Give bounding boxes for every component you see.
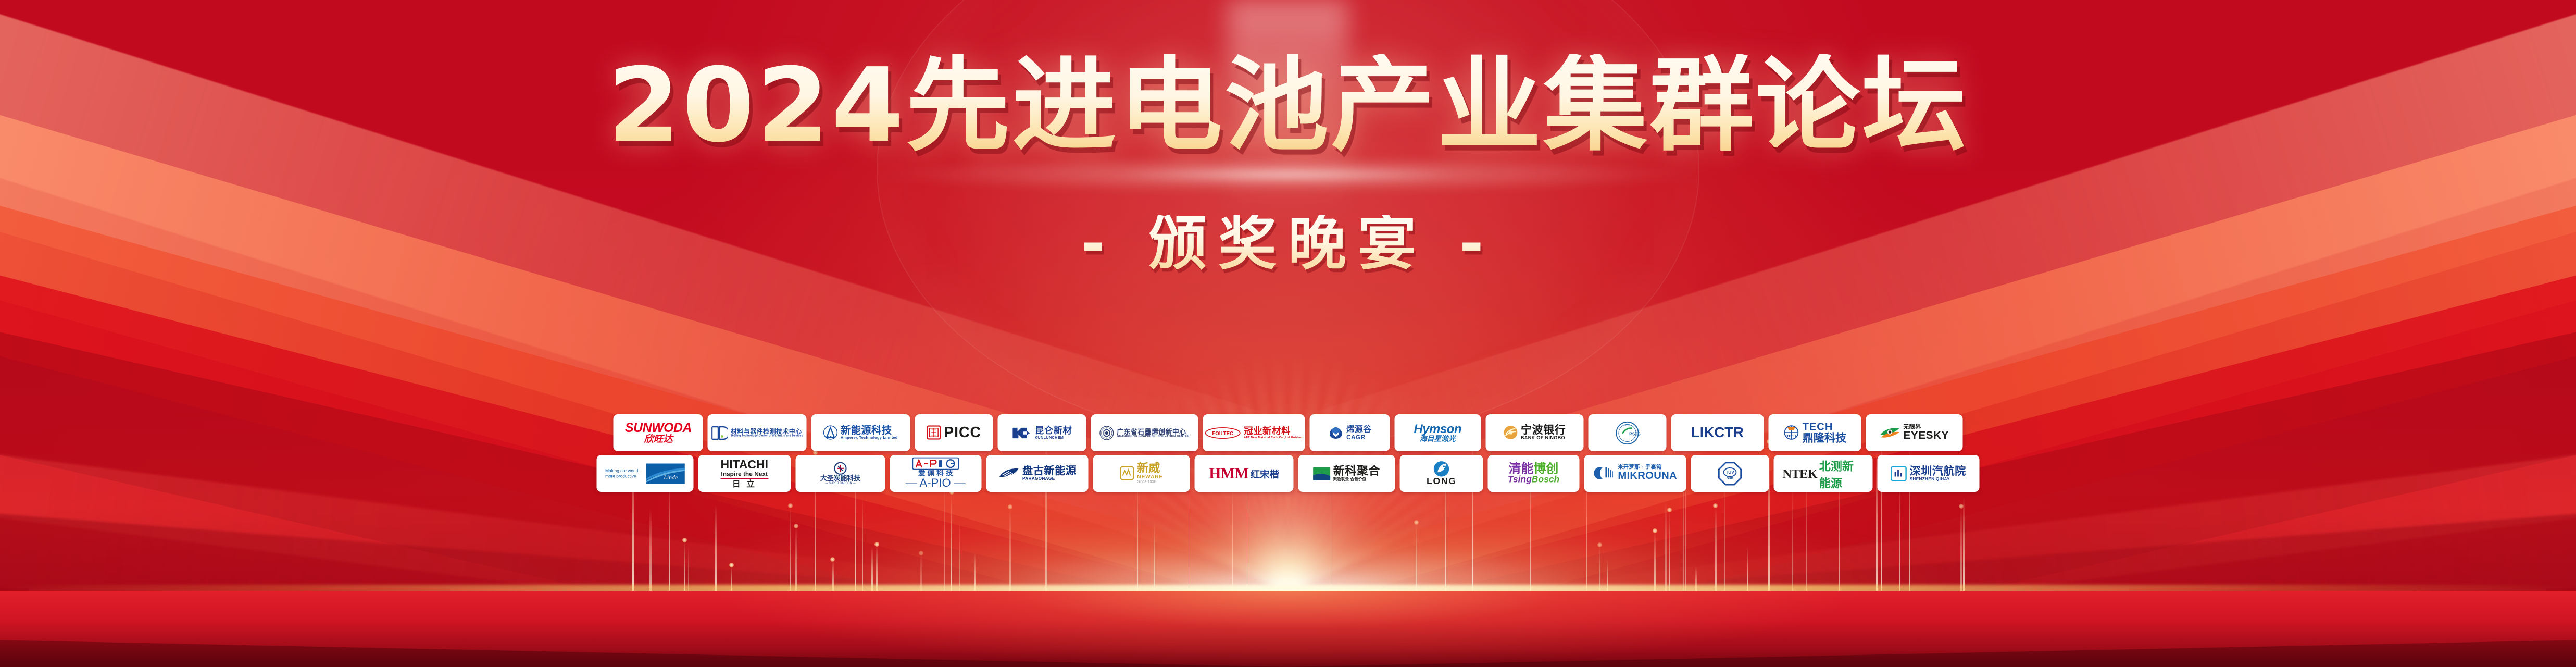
sponsor-logo-card[interactable]: 新威 NEWARE Since 1998 (1093, 455, 1190, 492)
svg-text:TUV: TUV (1725, 470, 1734, 475)
streak-head-dot (794, 524, 798, 528)
sponsor-name-cn: 深圳汽航院 (1910, 465, 1966, 477)
sponsor-logo-card[interactable]: 材料与器件检测技术中心 Testing Technology Center of… (708, 414, 807, 451)
sponsor-name-cn: 新科聚合 (1333, 465, 1380, 477)
sponsor-name-cn: 广东省石墨烯创新中心 (1117, 428, 1189, 435)
sponsor-logo-neware-xinwei: 新威 NEWARE Since 1998 (1120, 463, 1163, 484)
foiltec-oval-icon: FOILTEC (1205, 427, 1241, 439)
sponsor-name-en: BANK OF NINGBO (1521, 436, 1566, 441)
light-streak (1232, 484, 1233, 599)
sponsor-logo-xinke-juhe: 新科聚合 聚物联云 合包价值 (1313, 465, 1380, 481)
picc-seal-icon (927, 426, 941, 440)
psts-circle-icon: PSTS●●●●●● (1614, 421, 1641, 445)
sponsor-logo-tsingbosch: 清能博创 TsingBosch (1508, 462, 1559, 485)
light-streak (951, 492, 952, 599)
sponsor-logo-shenzhen-qihay: 深圳汽航院 SHENZHEN QIHAY (1891, 465, 1966, 481)
sponsor-logo-tuv-sud: TUVSUD (1718, 462, 1742, 486)
sponsor-logo-card[interactable]: LIKCTR (1671, 414, 1764, 451)
mikrouna-swoosh-icon (1593, 466, 1615, 481)
long-globe-icon (1433, 461, 1449, 477)
sponsor-logo-eyesky: 无眼界 EYESKY (1880, 424, 1949, 441)
sponsor-name-en: LONG (1427, 477, 1457, 486)
sponsor-logo-cagr-xiyuangu: 烯源谷 CAGR (1328, 425, 1371, 440)
streak-head-dot (1008, 504, 1012, 509)
sponsor-name-en: — SUPER CARBON — (825, 481, 855, 485)
light-streak (1792, 483, 1793, 599)
sponsor-logo-a-pio-aipei: 爱 佩 科 技 — A-PIO — (906, 458, 966, 489)
sponsor-logo-card[interactable]: Making our world more productive Linde (597, 455, 694, 492)
light-streak (669, 480, 670, 599)
sponsor-name-en: Amperex Technology Limited (841, 436, 898, 440)
dinglong-globe-icon: TECH (1783, 425, 1799, 440)
sponsor-logo-mikrouna: 米开罗那 · 手套箱 MIKROUNA (1593, 465, 1677, 482)
sponsor-logo-dinglong-tech: TECH TECH 鼎隆科技 (1783, 422, 1846, 444)
sponsor-name-cn: 海目星激光 (1420, 436, 1456, 443)
streak-head-dot (1667, 508, 1672, 512)
sponsor-logo-hymson: Hymson 海目星激光 (1414, 423, 1462, 443)
sponsor-name-en: HMM (1209, 464, 1248, 482)
light-streak (1137, 480, 1138, 599)
sponsor-logo-card[interactable]: 宁波银行 BANK OF NINGBO (1486, 414, 1584, 451)
sponsor-logo-likctr: LIKCTR (1691, 425, 1744, 440)
svg-text:SUD: SUD (1727, 477, 1733, 480)
sponsor-logo-card[interactable]: 广东省石墨烯创新中心 GUANGDONG GRAPHENE INNOVATION… (1091, 414, 1198, 451)
streak-head-dot (729, 563, 734, 567)
sponsor-name-en: HITACHI (721, 459, 769, 471)
sponsor-name-en: MIKROUNA (1618, 471, 1678, 481)
sponsor-logo-card[interactable]: 昆仑新材 KUNLUNCHEM (998, 414, 1086, 451)
qihay-square-icon (1891, 466, 1907, 481)
sponsor-logo-card[interactable]: Hymson 海目星激光 (1395, 414, 1481, 451)
streak-head-dot (830, 557, 835, 562)
sponsor-name-cn: 鼎隆科技 (1803, 433, 1847, 444)
cagr-shield-icon (1328, 426, 1343, 440)
streak-head-dot (1597, 542, 1602, 547)
sponsor-row-1: SUNWODA 欣旺达 材料与器件检测技术中心 Testing Technolo… (597, 414, 1980, 451)
kunlun-kl-icon (1012, 426, 1032, 440)
sponsor-name-cn: 烯源谷 (1346, 425, 1371, 434)
streak-head-dot (874, 542, 879, 547)
sponsor-logo-board: SUNWODA 欣旺达 材料与器件检测技术中心 Testing Technolo… (597, 414, 1980, 492)
sponsor-name-cn: 新能源科技 (841, 426, 898, 436)
sponsor-logo-card[interactable]: 无眼界 EYESKY (1866, 414, 1963, 451)
streak-head-dot (682, 538, 687, 542)
sponsor-name-en: SHENZHEN QIHAY (1910, 477, 1966, 481)
sponsor-name-en: — A-PIO — (906, 477, 966, 489)
streak-head-dot (919, 551, 923, 555)
sponsor-tagline: Making our world more productive (605, 468, 643, 479)
sponsor-logo-card[interactable]: 盘古新能源 PARAGONAGE (986, 455, 1089, 492)
bank-of-ningbo-circle-icon (1504, 426, 1518, 440)
tuv-sud-octagon-icon: TUVSUD (1718, 462, 1742, 486)
sponsor-name-en: KUNLUNCHEM (1035, 436, 1072, 440)
sponsor-name-en: NTEK (1782, 466, 1817, 481)
xinke-flag-icon (1313, 467, 1330, 480)
sponsor-logo-bank-of-ningbo: 宁波银行 BANK OF NINGBO (1504, 425, 1566, 441)
sponsor-row-2: Making our world more productive Linde H… (597, 455, 1980, 492)
sponsor-logo-sunwoda: SUNWODA 欣旺达 (625, 421, 692, 444)
subtitle: - 颁奖晚宴 - (1081, 215, 1495, 273)
sponsor-logo-card[interactable]: FOILTEC 冠业新材料 AFT New Material Tech.Co.,… (1203, 414, 1305, 451)
linde-box-icon: Linde (646, 462, 685, 484)
sponsor-name-cn: 欣旺达 (644, 435, 672, 444)
sponsor-name-en: GUANGDONG GRAPHENE INNOVATION CENTER (1117, 435, 1189, 438)
sponsor-name-en: Hymson (1414, 423, 1462, 436)
sponsor-logo-card[interactable]: HMM 红宋楷 (1195, 455, 1294, 492)
sponsor-name-en: CAGR (1346, 434, 1371, 440)
sponsor-name-en: LIKCTR (1691, 425, 1744, 440)
light-streak (1899, 480, 1900, 599)
title-shine-streak (871, 156, 1705, 193)
subtitle-block: - 颁奖晚宴 - (0, 215, 2576, 273)
sponsor-name-en: TsingBosch (1508, 475, 1559, 485)
streak-head-dot (1713, 503, 1718, 508)
svg-text:PSTS: PSTS (1629, 431, 1641, 436)
sponsor-name-cn: 昆仑新材 (1035, 426, 1072, 436)
sponsor-name-cn: 日 立 (732, 480, 757, 488)
sponsor-logo-atl-amperex: ATL 新能源科技 Amperex Technology Limited (823, 426, 898, 440)
sponsor-logo-card[interactable]: 爱 佩 科 技 — A-PIO — (890, 455, 982, 492)
neware-box-icon (1120, 466, 1134, 481)
sponsor-name-en: PICC (944, 425, 981, 441)
sponsor-logo-hitachi: HITACHI Inspire the Next 日 立 (721, 459, 769, 488)
sponsor-logo-md-material-device-center: 材料与器件检测技术中心 Testing Technology Center of… (711, 426, 803, 440)
sponsor-logo-card[interactable]: LONG (1400, 455, 1483, 492)
sponsor-name-cn: 大圣炭能科技 (820, 475, 860, 481)
apio-block-icon (912, 458, 959, 470)
sponsor-tagline: Since 1998 (1137, 480, 1163, 484)
sponsor-logo-super-carbon: 大圣炭能科技 — SUPER CARBON — (820, 462, 860, 485)
streak-head-dot (1414, 520, 1419, 525)
sponsor-name-en: Testing Technology Center of Materials a… (731, 435, 803, 437)
pangu-arrow-icon (998, 467, 1019, 480)
sponsor-name-cn: 清能博创 (1509, 462, 1559, 475)
sponsor-name-en: 聚物联云 合包价值 (1333, 477, 1380, 481)
sponsor-logo-picc: PICC (927, 425, 981, 441)
svg-text:Linde: Linde (663, 474, 678, 481)
streak-head-dot (788, 503, 793, 508)
sponsor-name-cn: 北测新能源 (1819, 456, 1864, 490)
light-streak (862, 497, 864, 599)
sponsor-logo-kunlunchem: 昆仑新材 KUNLUNCHEM (1012, 426, 1072, 440)
svg-text:FOILTEC: FOILTEC (1212, 431, 1233, 437)
streak-head-dot (1653, 528, 1657, 533)
sponsor-name-cn: 盘古新能源 (1022, 466, 1077, 477)
sponsor-name-en: EYESKY (1904, 430, 1949, 441)
sponsor-logo-hmm-hongsongkai: HMM 红宋楷 (1209, 464, 1279, 482)
sponsor-name-cn: 冠业新材料 (1244, 427, 1303, 436)
light-streak (1963, 497, 1965, 599)
sponsor-logo-card[interactable]: PSTS●●●●●● (1589, 414, 1667, 451)
sponsor-logo-card[interactable]: PICC (915, 414, 993, 451)
eyesky-swoosh-icon (1880, 426, 1900, 440)
sponsor-logo-linde: Making our world more productive Linde (605, 462, 685, 484)
sponsor-logo-card[interactable]: 深圳汽航院 SHENZHEN QIHAY (1878, 455, 1980, 492)
sponsor-logo-card[interactable]: 米开罗那 · 手套箱 MIKROUNA (1584, 455, 1686, 492)
sponsor-logo-guangdong-graphene-innovation-center: 广东省石墨烯创新中心 GUANGDONG GRAPHENE INNOVATION… (1099, 426, 1190, 440)
sponsor-tagline: Inspire the Next (721, 471, 768, 477)
sponsor-name-cn: 新威 (1137, 463, 1163, 475)
title-block: 2024先进电池产业集群论坛 (0, 54, 2576, 158)
md-square-icon (711, 426, 728, 440)
poster-canvas: 2024先进电池产业集群论坛 - 颁奖晚宴 - SUNWODA 欣旺达 材料与器… (0, 0, 2576, 667)
sponsor-name-cn: 宁波银行 (1521, 425, 1566, 436)
svg-text:TECH: TECH (1787, 435, 1796, 439)
super-carbon-circle-icon (834, 462, 847, 475)
sponsor-logo-card[interactable]: 大圣炭能科技 — SUPER CARBON — (796, 455, 885, 492)
sponsor-name-en: AFT New Material Tech.Co.,Ltd.Huizhou (1244, 436, 1303, 439)
sponsor-logo-card[interactable]: 清能博创 TsingBosch (1488, 455, 1580, 492)
sponsor-logo-card[interactable]: TECH TECH 鼎隆科技 (1769, 414, 1861, 451)
page-title: 2024先进电池产业集群论坛 (608, 54, 1969, 158)
sponsor-logo-card[interactable]: SUNWODA 欣旺达 (614, 414, 703, 451)
sponsor-logo-foiltec: FOILTEC 冠业新材料 AFT New Material Tech.Co.,… (1205, 427, 1304, 439)
sponsor-logo-card[interactable]: HITACHI Inspire the Next 日 立 (698, 455, 791, 492)
sponsor-name-en: SUNWODA (625, 421, 692, 435)
sponsor-logo-long: LONG (1427, 461, 1457, 486)
sponsor-logo-card[interactable]: 新科聚合 聚物联云 合包价值 (1298, 455, 1395, 492)
sponsor-name-cn: 红宋楷 (1251, 466, 1279, 480)
sponsor-logo-card[interactable]: TUVSUD (1691, 455, 1769, 492)
sponsor-logo-card[interactable]: 烯源谷 CAGR (1310, 414, 1390, 451)
light-streak (944, 480, 945, 599)
sponsor-logo-psts: PSTS●●●●●● (1614, 421, 1641, 445)
atl-triangle-icon: ATL (823, 426, 838, 440)
sponsor-logo-card[interactable]: NTEK 北测新能源 (1774, 455, 1873, 492)
sponsor-name-cn: 材料与器件检测技术中心 (731, 428, 803, 435)
svg-text:ATL: ATL (828, 437, 834, 440)
sponsor-logo-card[interactable]: ATL 新能源科技 Amperex Technology Limited (811, 414, 910, 451)
sponsor-name-en: TECH (1803, 422, 1847, 433)
sponsor-logo-paragonage-pangu: 盘古新能源 PARAGONAGE (998, 466, 1077, 481)
svg-text:●●●●●●: ●●●●●● (1624, 424, 1631, 426)
sponsor-logo-ntek-beice: NTEK 北测新能源 (1782, 456, 1864, 490)
sponsor-name-en: PARAGONAGE (1022, 477, 1077, 481)
graphene-hex-icon (1099, 426, 1114, 440)
light-streak (1724, 476, 1725, 599)
